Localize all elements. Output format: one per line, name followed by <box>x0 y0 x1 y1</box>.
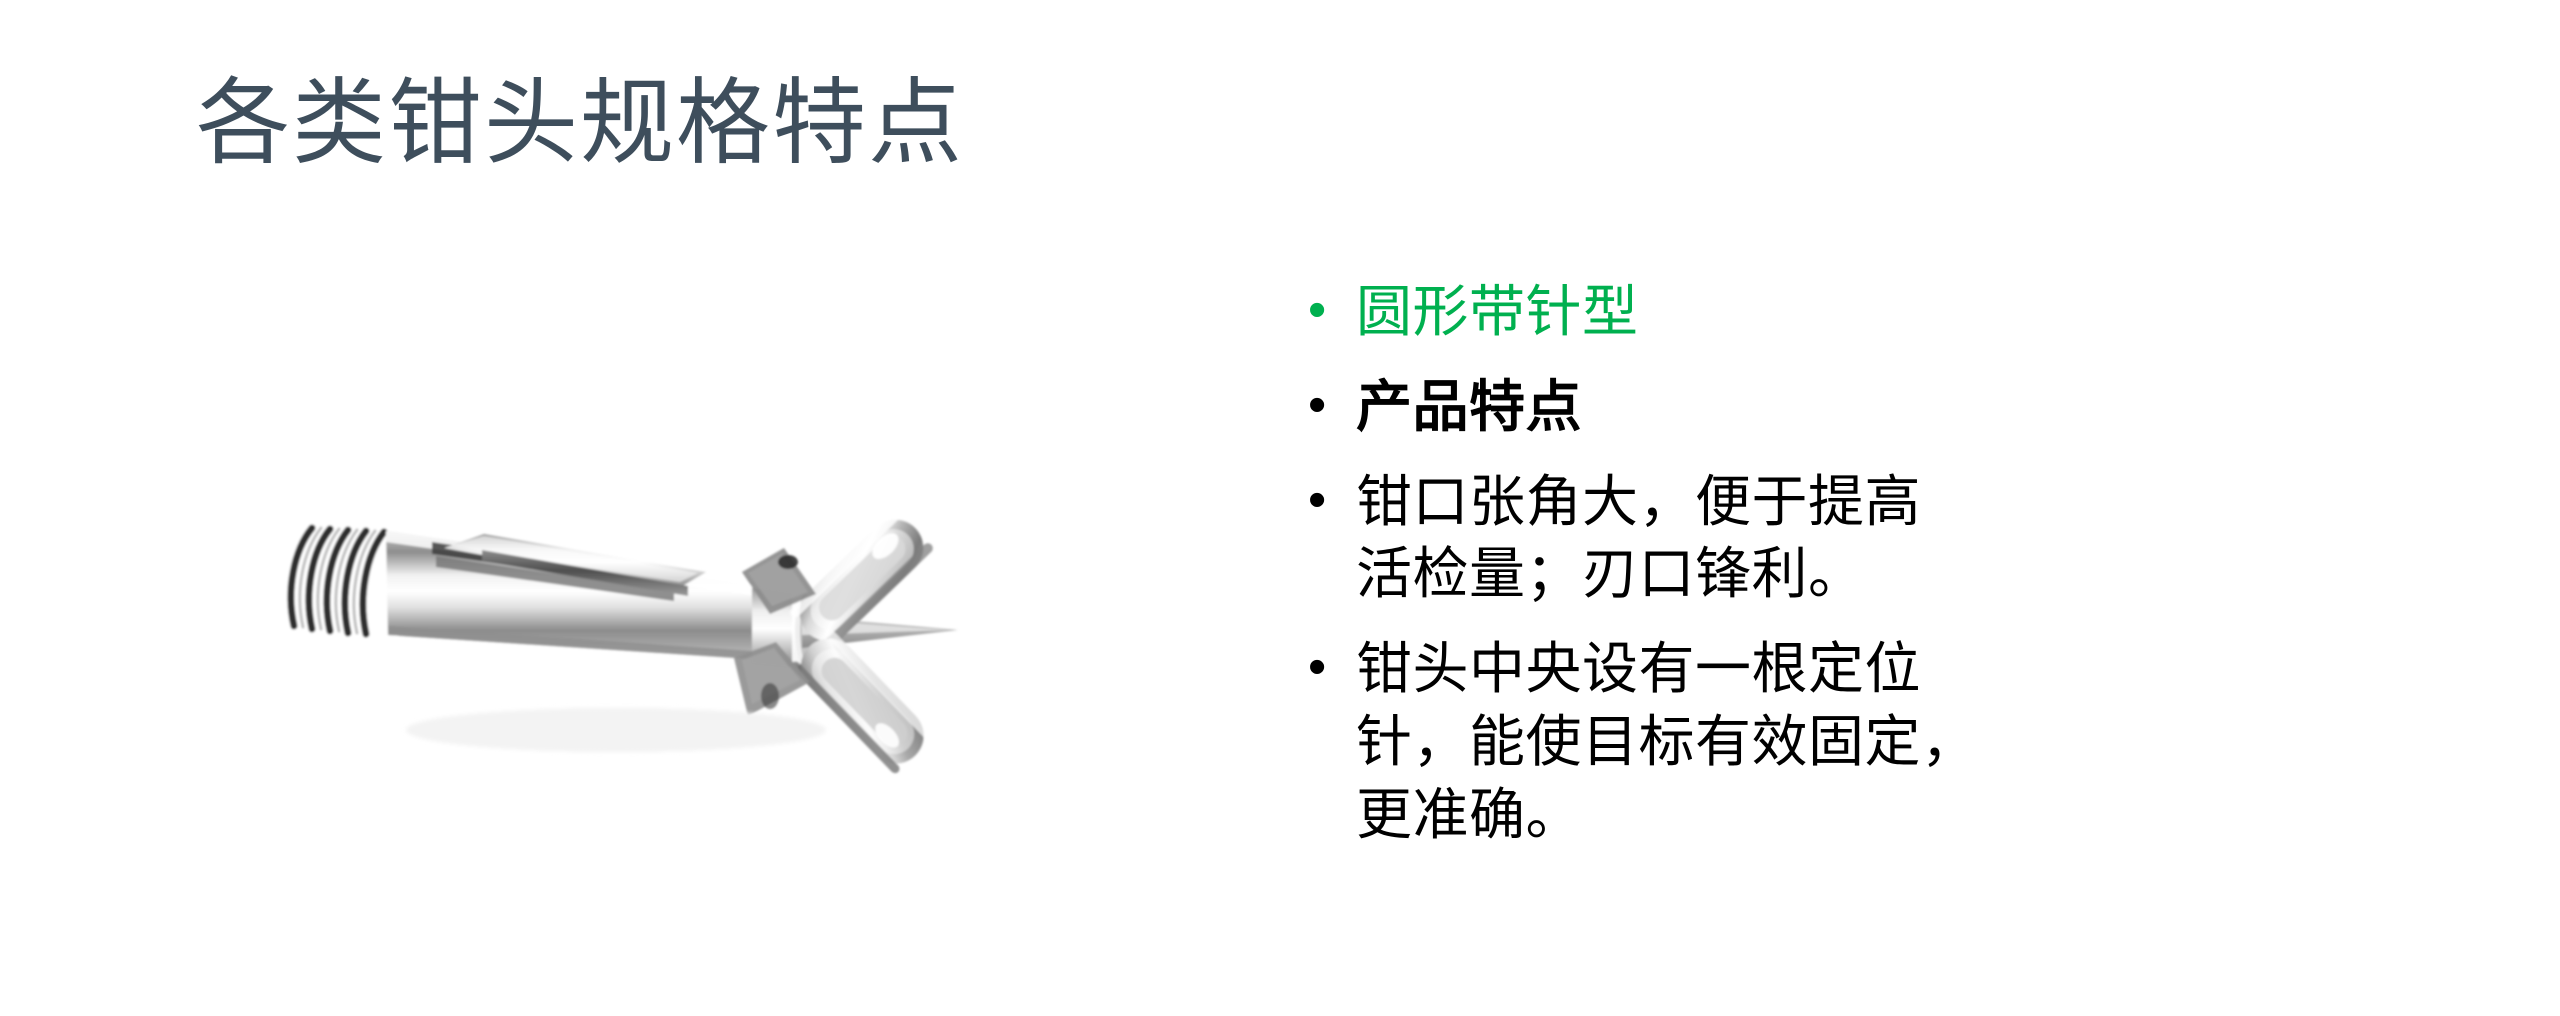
list-item[interactable]: • 钳口张角大，便于提高 活检量；刃口锋利。 <box>1300 466 2200 612</box>
biopsy-forceps-with-needle-photo <box>236 430 976 900</box>
picture-placeholder[interactable] <box>236 430 976 900</box>
page-title: 各类钳头规格特点 <box>196 68 1496 177</box>
bullet-text: 钳口张角大，便于提高 活检量；刃口锋利。 <box>1356 466 2200 612</box>
bullet-point-icon: • <box>1300 371 1356 440</box>
bullet-text: 产品特点 <box>1356 371 2200 444</box>
bullet-point-icon: • <box>1300 633 1356 702</box>
list-item[interactable]: • 钳头中央设有一根定位 针，能使目标有效固定， 更准确。 <box>1300 633 2200 851</box>
bullet-text: 圆形带针型 <box>1356 276 2200 349</box>
bullet-point-icon: • <box>1300 276 1356 345</box>
bullet-text: 钳头中央设有一根定位 针，能使目标有效固定， 更准确。 <box>1356 633 2200 851</box>
bullet-point-icon: • <box>1300 466 1356 535</box>
list-item[interactable]: • 圆形带针型 <box>1300 276 2200 349</box>
list-item[interactable]: • 产品特点 <box>1300 371 2200 444</box>
body-text-placeholder: • 圆形带针型 • 产品特点 • 钳口张角大，便于提高 活检量；刃口锋利。 • … <box>1300 276 2200 856</box>
slide-canvas: 各类钳头规格特点 <box>0 0 2560 1016</box>
